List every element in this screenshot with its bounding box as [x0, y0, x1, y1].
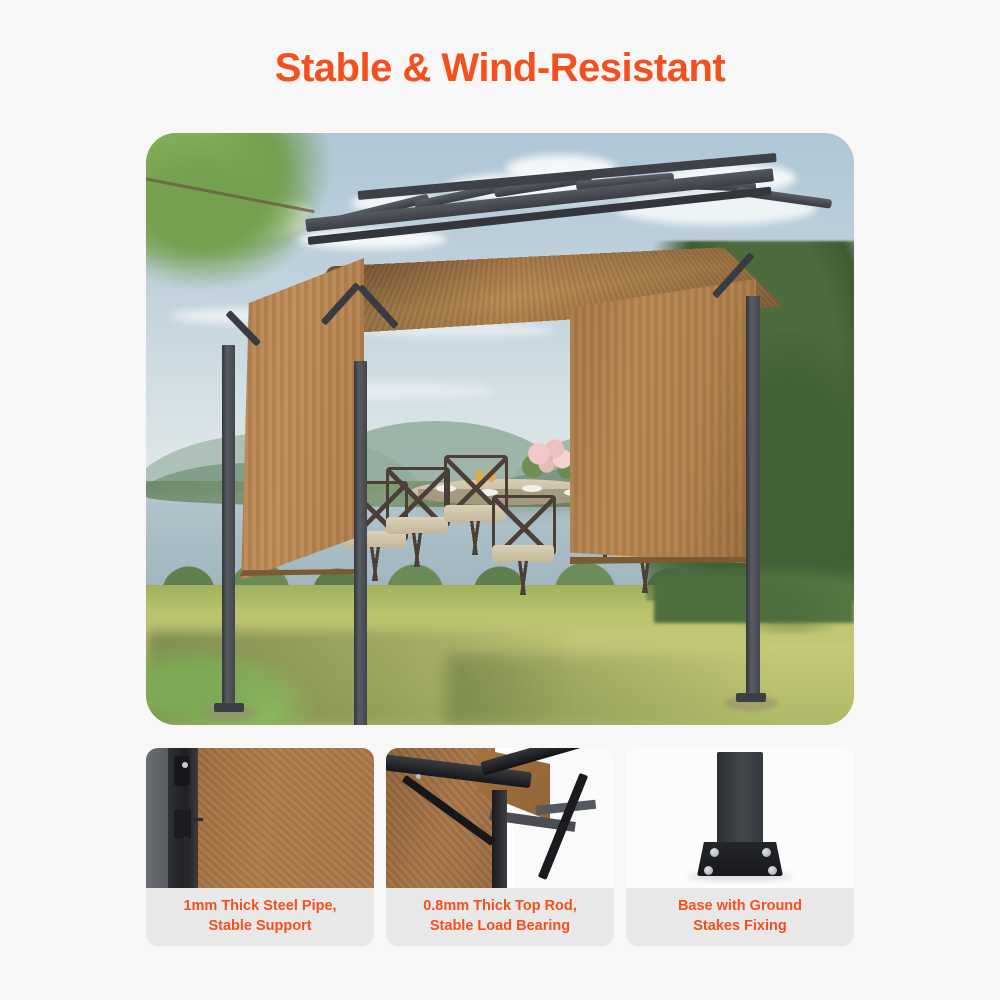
canopy-fabric-detail	[198, 748, 374, 888]
screw-icon	[182, 762, 188, 768]
bolt-hole	[710, 848, 719, 857]
support-rod	[184, 836, 188, 888]
curtain-weight-bar	[570, 557, 756, 564]
feature-image-top-rod	[386, 748, 614, 888]
page-title: Stable & Wind-Resistant	[0, 46, 1000, 91]
pergola-frame	[146, 133, 854, 725]
feature-caption-ground-stakes: Base with Ground Stakes Fixing	[626, 888, 854, 946]
bolt-hole	[762, 848, 771, 857]
post-base-plate	[214, 703, 244, 712]
feature-card-list: 1mm Thick Steel Pipe, Stable Support 0.8…	[146, 748, 854, 946]
feature-caption-steel-pipe: 1mm Thick Steel Pipe, Stable Support	[146, 888, 374, 946]
steel-pipe-edge	[146, 748, 168, 888]
feature-caption-top-rod: 0.8mm Thick Top Rod, Stable Load Bearing	[386, 888, 614, 946]
post-rear-left	[222, 345, 235, 707]
hero-image	[146, 133, 854, 725]
feature-card-steel-pipe: 1mm Thick Steel Pipe, Stable Support	[146, 748, 374, 946]
product-feature-page: Stable & Wind-Resistant	[0, 0, 1000, 1000]
bolt-hole	[768, 866, 777, 875]
feature-caption-text: 1mm Thick Steel Pipe, Stable Support	[183, 897, 336, 936]
feature-caption-text: 0.8mm Thick Top Rod, Stable Load Bearing	[423, 897, 577, 936]
hero-scene	[146, 133, 854, 725]
feature-caption-text: Base with Ground Stakes Fixing	[678, 897, 802, 936]
screw-icon	[416, 774, 421, 779]
side-curtain-left	[236, 258, 364, 580]
bracket-tab	[191, 818, 203, 821]
post-front-right	[746, 296, 760, 698]
bracket-clamp	[174, 756, 190, 786]
feature-image-ground-stakes	[626, 748, 854, 888]
feature-card-ground-stakes: Base with Ground Stakes Fixing	[626, 748, 854, 946]
side-curtain-right	[570, 279, 756, 564]
bolt-hole	[704, 866, 713, 875]
post-front-left	[354, 361, 367, 725]
post-base-plate	[736, 693, 766, 702]
feature-image-steel-pipe	[146, 748, 374, 888]
feature-card-top-rod: 0.8mm Thick Top Rod, Stable Load Bearing	[386, 748, 614, 946]
bracket-clamp	[174, 810, 191, 838]
